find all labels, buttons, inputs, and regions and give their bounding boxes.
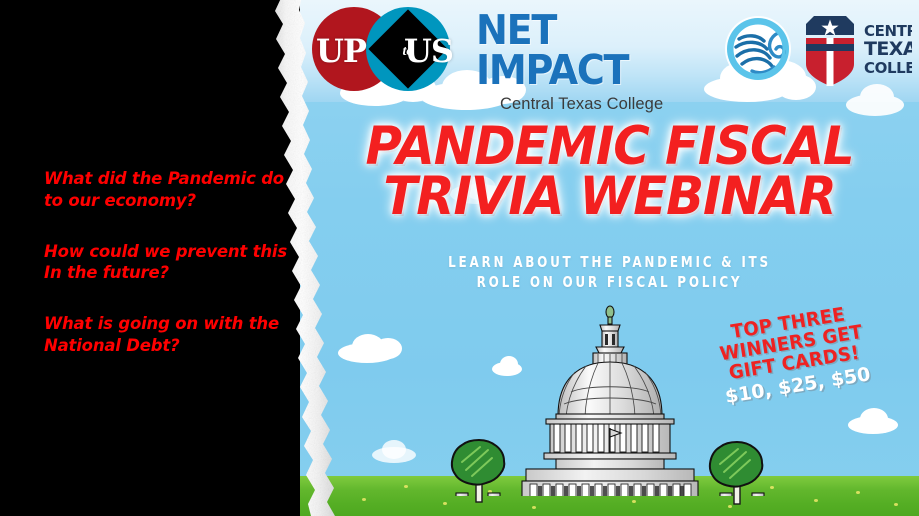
question-list: What did the Pandemic do to our economy?… [44,168,294,357]
title-line-1: PANDEMIC FISCAL [319,122,901,172]
net-impact-globe-icon [722,13,794,85]
poster-title: PANDEMIC FISCAL TRIVIA WEBINAR [300,122,919,222]
question-item: What is going on with the National Debt? [44,313,294,357]
poster-subtitle: LEARN ABOUT THE PANDEMIC & ITS ROLE ON O… [343,252,875,293]
question-item: How could we prevent this In the future? [44,241,294,285]
title-line-2: TRIVIA WEBINAR [319,172,901,222]
net-impact-name: NET IMPACT [476,10,699,90]
logo-bar: UP US to NET IMPACT Central Texas Colleg… [300,0,919,100]
net-impact-chapter: Central Texas College [500,95,716,114]
up-to-us-to-text: to [396,44,420,60]
question-panel: What did the Pandemic do to our economy?… [0,0,300,516]
up-to-us-logo[interactable]: UP US to [312,4,464,94]
ctc-shield-icon: CENTRAL TEXAS COLLEGE. [800,8,912,92]
poster-panel: UP US to NET IMPACT Central Texas Colleg… [300,0,919,516]
poster-slide: UP US to NET IMPACT Central Texas Colleg… [0,0,919,516]
question-item: What did the Pandemic do to our economy? [44,168,294,212]
svg-text:COLLEGE.: COLLEGE. [864,59,912,77]
svg-text:TEXAS: TEXAS [864,38,912,60]
up-to-us-up-text: UP [316,32,366,70]
net-impact-logo[interactable]: NET IMPACT Central Texas College [476,10,716,114]
